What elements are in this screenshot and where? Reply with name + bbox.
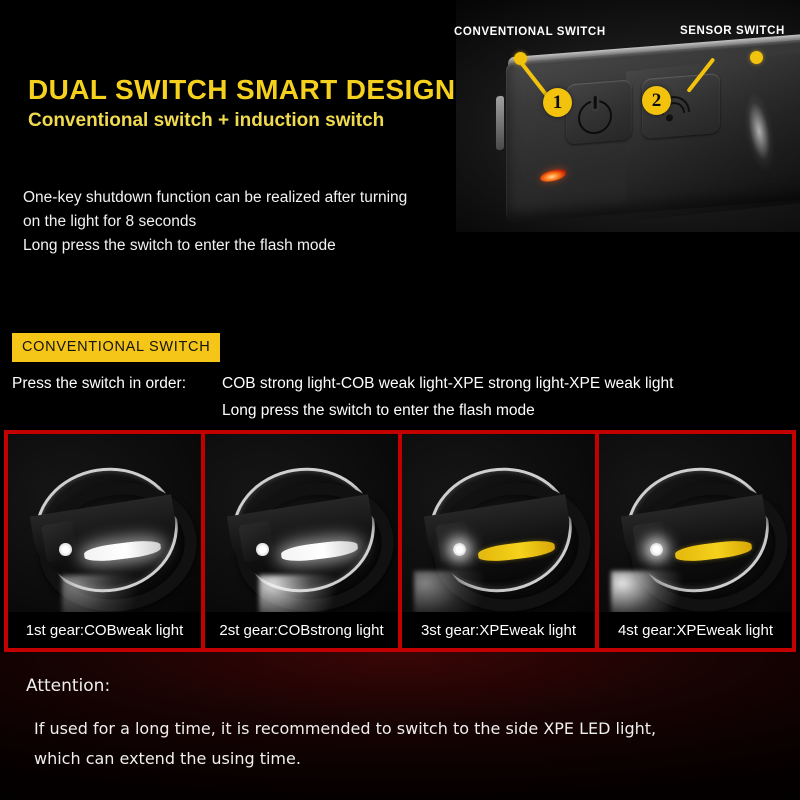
intro-line-1: One-key shutdown function can be realize…: [23, 186, 407, 210]
callout-dot-2: [750, 51, 763, 64]
band-mount: [238, 521, 275, 563]
gear-caption-1: 1st gear:COBweak light: [8, 612, 201, 648]
callout-label-conventional: CONVENTIONAL SWITCH: [454, 26, 606, 38]
attention-line-2: which can extend the using time.: [34, 744, 656, 774]
infographic-page: 1 2 CONVENTIONAL SWITCH SENSOR SWITCH DU…: [0, 0, 800, 800]
callout-marker-2: 2: [642, 86, 671, 115]
band-mount: [435, 521, 472, 563]
gear-caption-2: 2st gear:COBstrong light: [205, 612, 398, 648]
conventional-switch-badge: CONVENTIONAL SWITCH: [12, 333, 220, 362]
gear-caption-row: 1st gear:COBweak light 2st gear:COBstron…: [4, 612, 796, 652]
callout-label-sensor: SENSOR SWITCH: [680, 25, 785, 37]
intro-line-3: Long press the switch to enter the flash…: [23, 234, 407, 258]
headlamp-band: [35, 468, 178, 592]
gear-caption-3: 3st gear:XPEweak light: [402, 612, 595, 648]
callout-marker-1: 1: [543, 88, 572, 117]
page-title: DUAL SWITCH SMART DESIGN: [28, 74, 456, 106]
gear-caption-4: 4st gear:XPEweak light: [599, 612, 792, 648]
press-order-label: Press the switch in order:: [12, 375, 186, 393]
attention-title: Attention:: [26, 676, 110, 696]
headlamp-band: [232, 468, 375, 592]
page-subtitle: Conventional switch + induction switch: [28, 110, 384, 132]
press-order-note: Long press the switch to enter the flash…: [222, 402, 535, 420]
intro-line-2: on the light for 8 seconds: [23, 210, 407, 234]
press-order-value: COB strong light-COB weak light-XPE stro…: [222, 375, 673, 393]
attention-line-1: If used for a long time, it is recommend…: [34, 714, 656, 744]
band-mount: [41, 521, 78, 563]
device-side-notch: [496, 96, 504, 151]
attention-body: If used for a long time, it is recommend…: [34, 714, 656, 774]
intro-paragraph: One-key shutdown function can be realize…: [23, 186, 407, 258]
band-mount: [632, 521, 669, 563]
callout-dot-1: [514, 52, 527, 65]
